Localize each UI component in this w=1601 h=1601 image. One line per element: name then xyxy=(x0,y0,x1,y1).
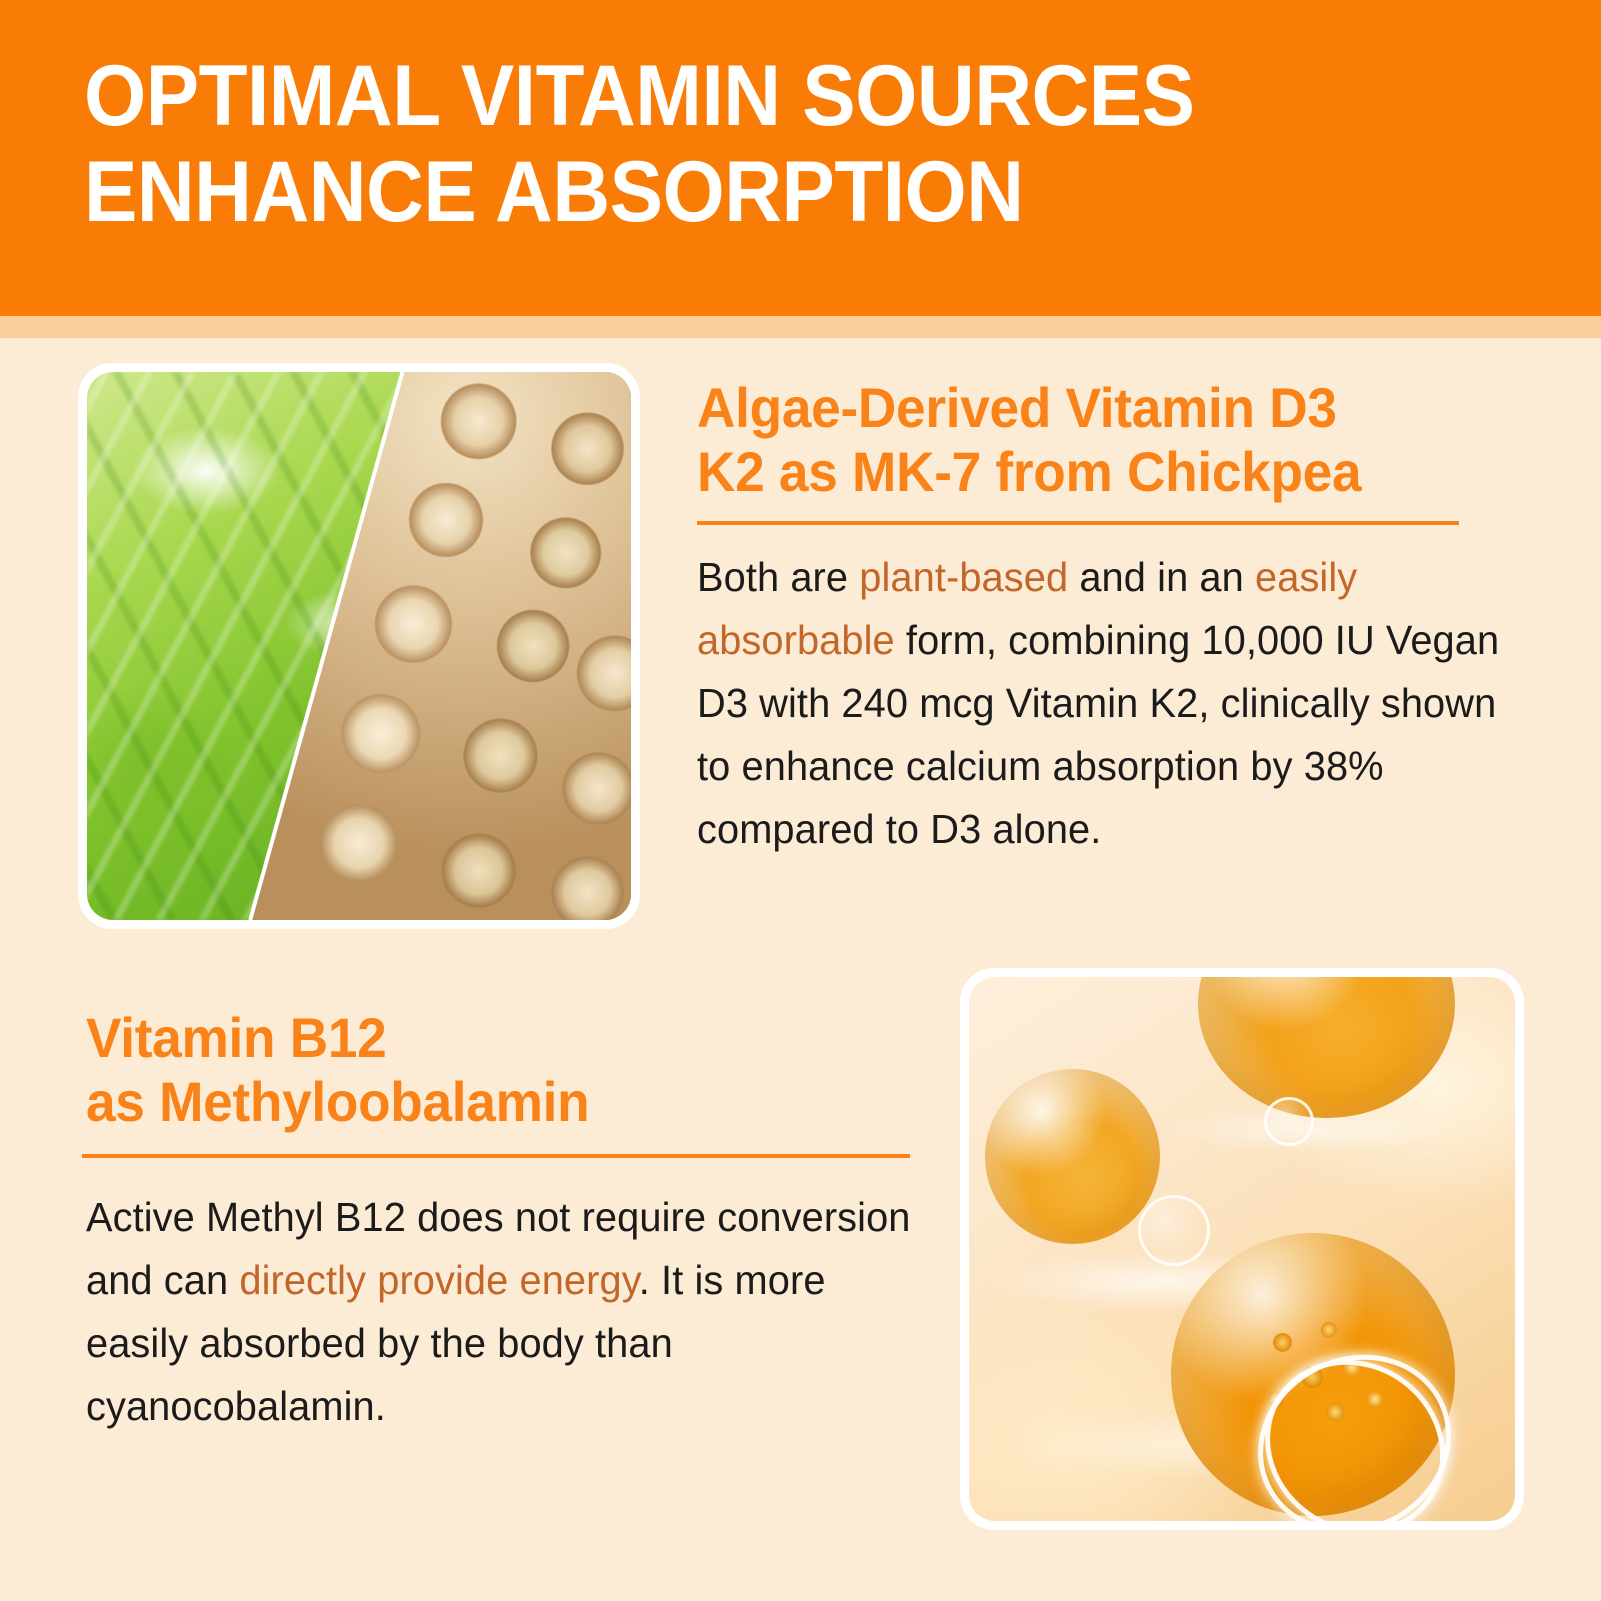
section-divider-b12 xyxy=(82,1154,910,1158)
section-heading-d3-k2: Algae-Derived Vitamin D3 K2 as MK-7 from… xyxy=(697,376,1476,504)
bubble-large-icon xyxy=(1138,1195,1210,1266)
body-highlight: directly provide energy xyxy=(239,1257,638,1303)
body-segment: Both are xyxy=(697,554,859,600)
page-title: OPTIMAL VITAMIN SOURCES ENHANCE ABSORPTI… xyxy=(84,48,1423,240)
body-segment: and in an xyxy=(1068,554,1255,600)
diagonal-split-divider xyxy=(87,372,631,920)
section-body-b12: Active Methyl B12 does not require conve… xyxy=(86,1186,911,1438)
molecule-image xyxy=(969,977,1515,1521)
molecule-sphere-main xyxy=(1171,1233,1455,1516)
body-highlight: plant-based xyxy=(859,554,1068,600)
section-body-d3-k2: Both are plant-based and in an easily ab… xyxy=(697,546,1522,861)
section-divider-d3-k2 xyxy=(697,521,1459,525)
algae-chickpea-image-card xyxy=(78,363,640,929)
molecule-sphere-left xyxy=(985,1069,1160,1243)
molecule-image-card xyxy=(960,968,1524,1530)
algae-chickpea-image xyxy=(87,372,631,920)
header-accent-strip xyxy=(0,316,1601,338)
bubble-small-icon xyxy=(1264,1097,1314,1147)
section-heading-b12: Vitamin B12 as Methyloobalamin xyxy=(86,1006,875,1134)
